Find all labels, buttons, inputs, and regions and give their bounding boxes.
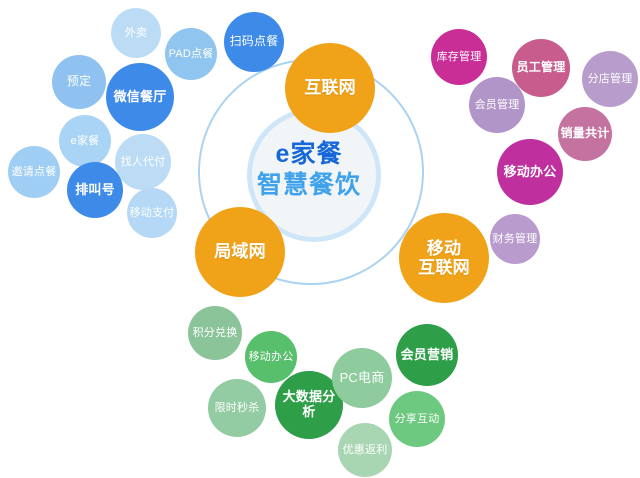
node-bubble-2[interactable]: 分店管理 bbox=[582, 51, 638, 107]
node-bubble-label: 积分兑换 bbox=[188, 327, 242, 339]
node-bubble-5[interactable]: 会员营销 bbox=[396, 324, 458, 386]
node-bubble-label: 财务管理 bbox=[490, 233, 540, 245]
node-bubble-7[interactable]: 优惠返利 bbox=[338, 423, 392, 477]
node-bubble-6[interactable]: 找人代付 bbox=[115, 134, 171, 190]
node-bubble-label: 分店管理 bbox=[582, 73, 638, 85]
node-bubble-label: 移动办公 bbox=[245, 351, 297, 363]
node-bubble-label: 限时秒杀 bbox=[208, 402, 266, 414]
node-bubble-5[interactable]: e家餐 bbox=[59, 115, 111, 167]
node-bubble-label: 分享互动 bbox=[389, 413, 445, 425]
node-bubble-2[interactable]: 扫码点餐 bbox=[224, 12, 284, 72]
hub-bubble-1[interactable]: 局域网 bbox=[195, 207, 285, 297]
node-bubble-label: e家餐 bbox=[59, 135, 111, 147]
center-title: e家餐 智慧餐饮 bbox=[219, 138, 399, 202]
node-bubble-7[interactable]: 邀请点餐 bbox=[8, 146, 60, 198]
node-bubble-label: PAD点餐 bbox=[165, 48, 217, 60]
node-bubble-label: 优惠返利 bbox=[338, 444, 392, 456]
node-bubble-4[interactable]: PC电商 bbox=[332, 348, 392, 408]
hub-bubble-2[interactable]: 移动互联网 bbox=[399, 213, 489, 303]
node-bubble-label: 库存管理 bbox=[431, 51, 487, 63]
node-bubble-label: 排叫号 bbox=[67, 183, 123, 198]
node-bubble-9[interactable]: 移动支付 bbox=[127, 188, 177, 238]
hub-bubble-label: 局域网 bbox=[195, 242, 285, 261]
infographic-canvas: e家餐 智慧餐饮 互联网局域网移动互联网 外卖PAD点餐扫码点餐预定微信餐厅e家… bbox=[0, 0, 640, 478]
node-bubble-label: PC电商 bbox=[332, 371, 392, 386]
node-bubble-label: 邀请点餐 bbox=[8, 166, 60, 178]
node-bubble-label: 会员管理 bbox=[469, 99, 525, 111]
node-bubble-label: 外卖 bbox=[111, 27, 161, 39]
node-bubble-label: 会员营销 bbox=[396, 348, 458, 363]
node-bubble-0[interactable]: 库存管理 bbox=[431, 29, 487, 85]
node-bubble-2[interactable]: 限时秒杀 bbox=[208, 379, 266, 437]
node-bubble-4[interactable]: 销量共计 bbox=[558, 107, 612, 161]
node-bubble-0[interactable]: 积分兑换 bbox=[188, 306, 242, 360]
node-bubble-label: 找人代付 bbox=[115, 156, 171, 168]
node-bubble-label: 移动办公 bbox=[497, 165, 563, 180]
node-bubble-1[interactable]: 移动办公 bbox=[245, 331, 297, 383]
node-bubble-5[interactable]: 移动办公 bbox=[497, 139, 563, 205]
node-bubble-3[interactable]: 会员管理 bbox=[469, 77, 525, 133]
node-bubble-1[interactable]: 员工管理 bbox=[512, 39, 570, 97]
node-bubble-3[interactable]: 预定 bbox=[52, 55, 106, 109]
node-bubble-8[interactable]: 排叫号 bbox=[67, 162, 123, 218]
node-bubble-label: 销量共计 bbox=[558, 127, 612, 140]
node-bubble-label: 大数据分析 bbox=[275, 390, 343, 419]
node-bubble-6[interactable]: 分享互动 bbox=[389, 391, 445, 447]
node-bubble-4[interactable]: 微信餐厅 bbox=[106, 63, 174, 131]
hub-bubble-0[interactable]: 互联网 bbox=[285, 43, 375, 133]
node-bubble-label: 扫码点餐 bbox=[224, 35, 284, 48]
node-bubble-label: 员工管理 bbox=[512, 61, 570, 74]
center-title-line2: 智慧餐饮 bbox=[257, 170, 361, 201]
node-bubble-1[interactable]: PAD点餐 bbox=[165, 28, 217, 80]
node-bubble-6[interactable]: 财务管理 bbox=[490, 214, 540, 264]
hub-bubble-label: 互联网 bbox=[285, 78, 375, 97]
node-bubble-label: 预定 bbox=[52, 75, 106, 88]
hub-bubble-label: 移动互联网 bbox=[399, 239, 489, 277]
node-bubble-label: 移动支付 bbox=[127, 207, 177, 219]
center-title-line1: e家餐 bbox=[276, 139, 343, 170]
node-bubble-0[interactable]: 外卖 bbox=[111, 8, 161, 58]
node-bubble-label: 微信餐厅 bbox=[106, 90, 174, 105]
